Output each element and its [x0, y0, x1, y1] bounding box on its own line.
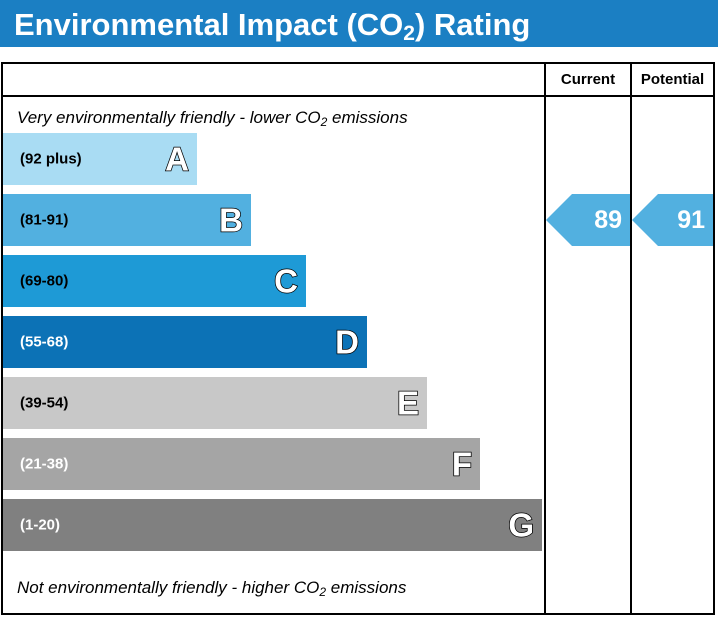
page-title-after: ) Rating	[415, 7, 530, 42]
rating-bar-e: (39-54) E	[3, 377, 427, 429]
rating-bar-g-letter: G	[508, 509, 534, 542]
rating-bar-a-range: (92 plus)	[20, 151, 82, 168]
rating-bar-d-range: (55-68)	[20, 334, 68, 351]
caption-bottom-subscript: 2	[319, 585, 326, 599]
rating-bar-a-letter: A	[165, 143, 189, 176]
column-divider-2	[630, 97, 632, 613]
rating-bar-b-letter: B	[219, 204, 243, 237]
title-bar: Environmental Impact (CO2) Rating	[0, 0, 718, 47]
rating-bar-f-letter: F	[452, 448, 472, 481]
rating-bar-e-range: (39-54)	[20, 395, 68, 412]
rating-bar-d-letter: D	[335, 326, 359, 359]
rating-bar-b: (81-91) B	[3, 194, 251, 246]
column-divider-1	[544, 97, 546, 613]
epc-environmental-impact-chart: Environmental Impact (CO2) Rating Curren…	[0, 0, 718, 619]
bars-group: (92 plus) A (81-91) B (69-80) C (55-68) …	[3, 64, 542, 613]
rating-bar-e-letter: E	[397, 387, 419, 420]
potential-rating-value: 91	[677, 194, 705, 246]
rating-bar-g-range: (1-20)	[20, 517, 60, 534]
page-title: Environmental Impact (CO2) Rating	[14, 7, 530, 43]
potential-rating-arrow: 91	[632, 194, 713, 246]
page-title-subscript: 2	[403, 22, 415, 45]
current-rating-value: 89	[594, 194, 622, 246]
rating-bar-c: (69-80) C	[3, 255, 306, 307]
column-header-potential: Potential	[630, 64, 713, 95]
rating-table: Current Potential Very environmentally f…	[1, 62, 715, 615]
rating-bar-f-range: (21-38)	[20, 456, 68, 473]
current-rating-arrow: 89	[546, 194, 630, 246]
rating-bar-b-range: (81-91)	[20, 212, 68, 229]
rating-bar-g: (1-20) G	[3, 499, 542, 551]
rating-bar-c-letter: C	[274, 265, 298, 298]
rating-bar-a: (92 plus) A	[3, 133, 197, 185]
page-title-before: Environmental Impact (CO	[14, 7, 403, 42]
caption-bottom: Not environmentally friendly - higher CO…	[17, 578, 406, 598]
rating-bar-c-range: (69-80)	[20, 273, 68, 290]
caption-bottom-after: emissions	[326, 578, 406, 597]
rating-bar-f: (21-38) F	[3, 438, 480, 490]
column-header-current: Current	[544, 64, 630, 95]
rating-bar-d: (55-68) D	[3, 316, 367, 368]
caption-bottom-before: Not environmentally friendly - higher CO	[17, 578, 319, 597]
